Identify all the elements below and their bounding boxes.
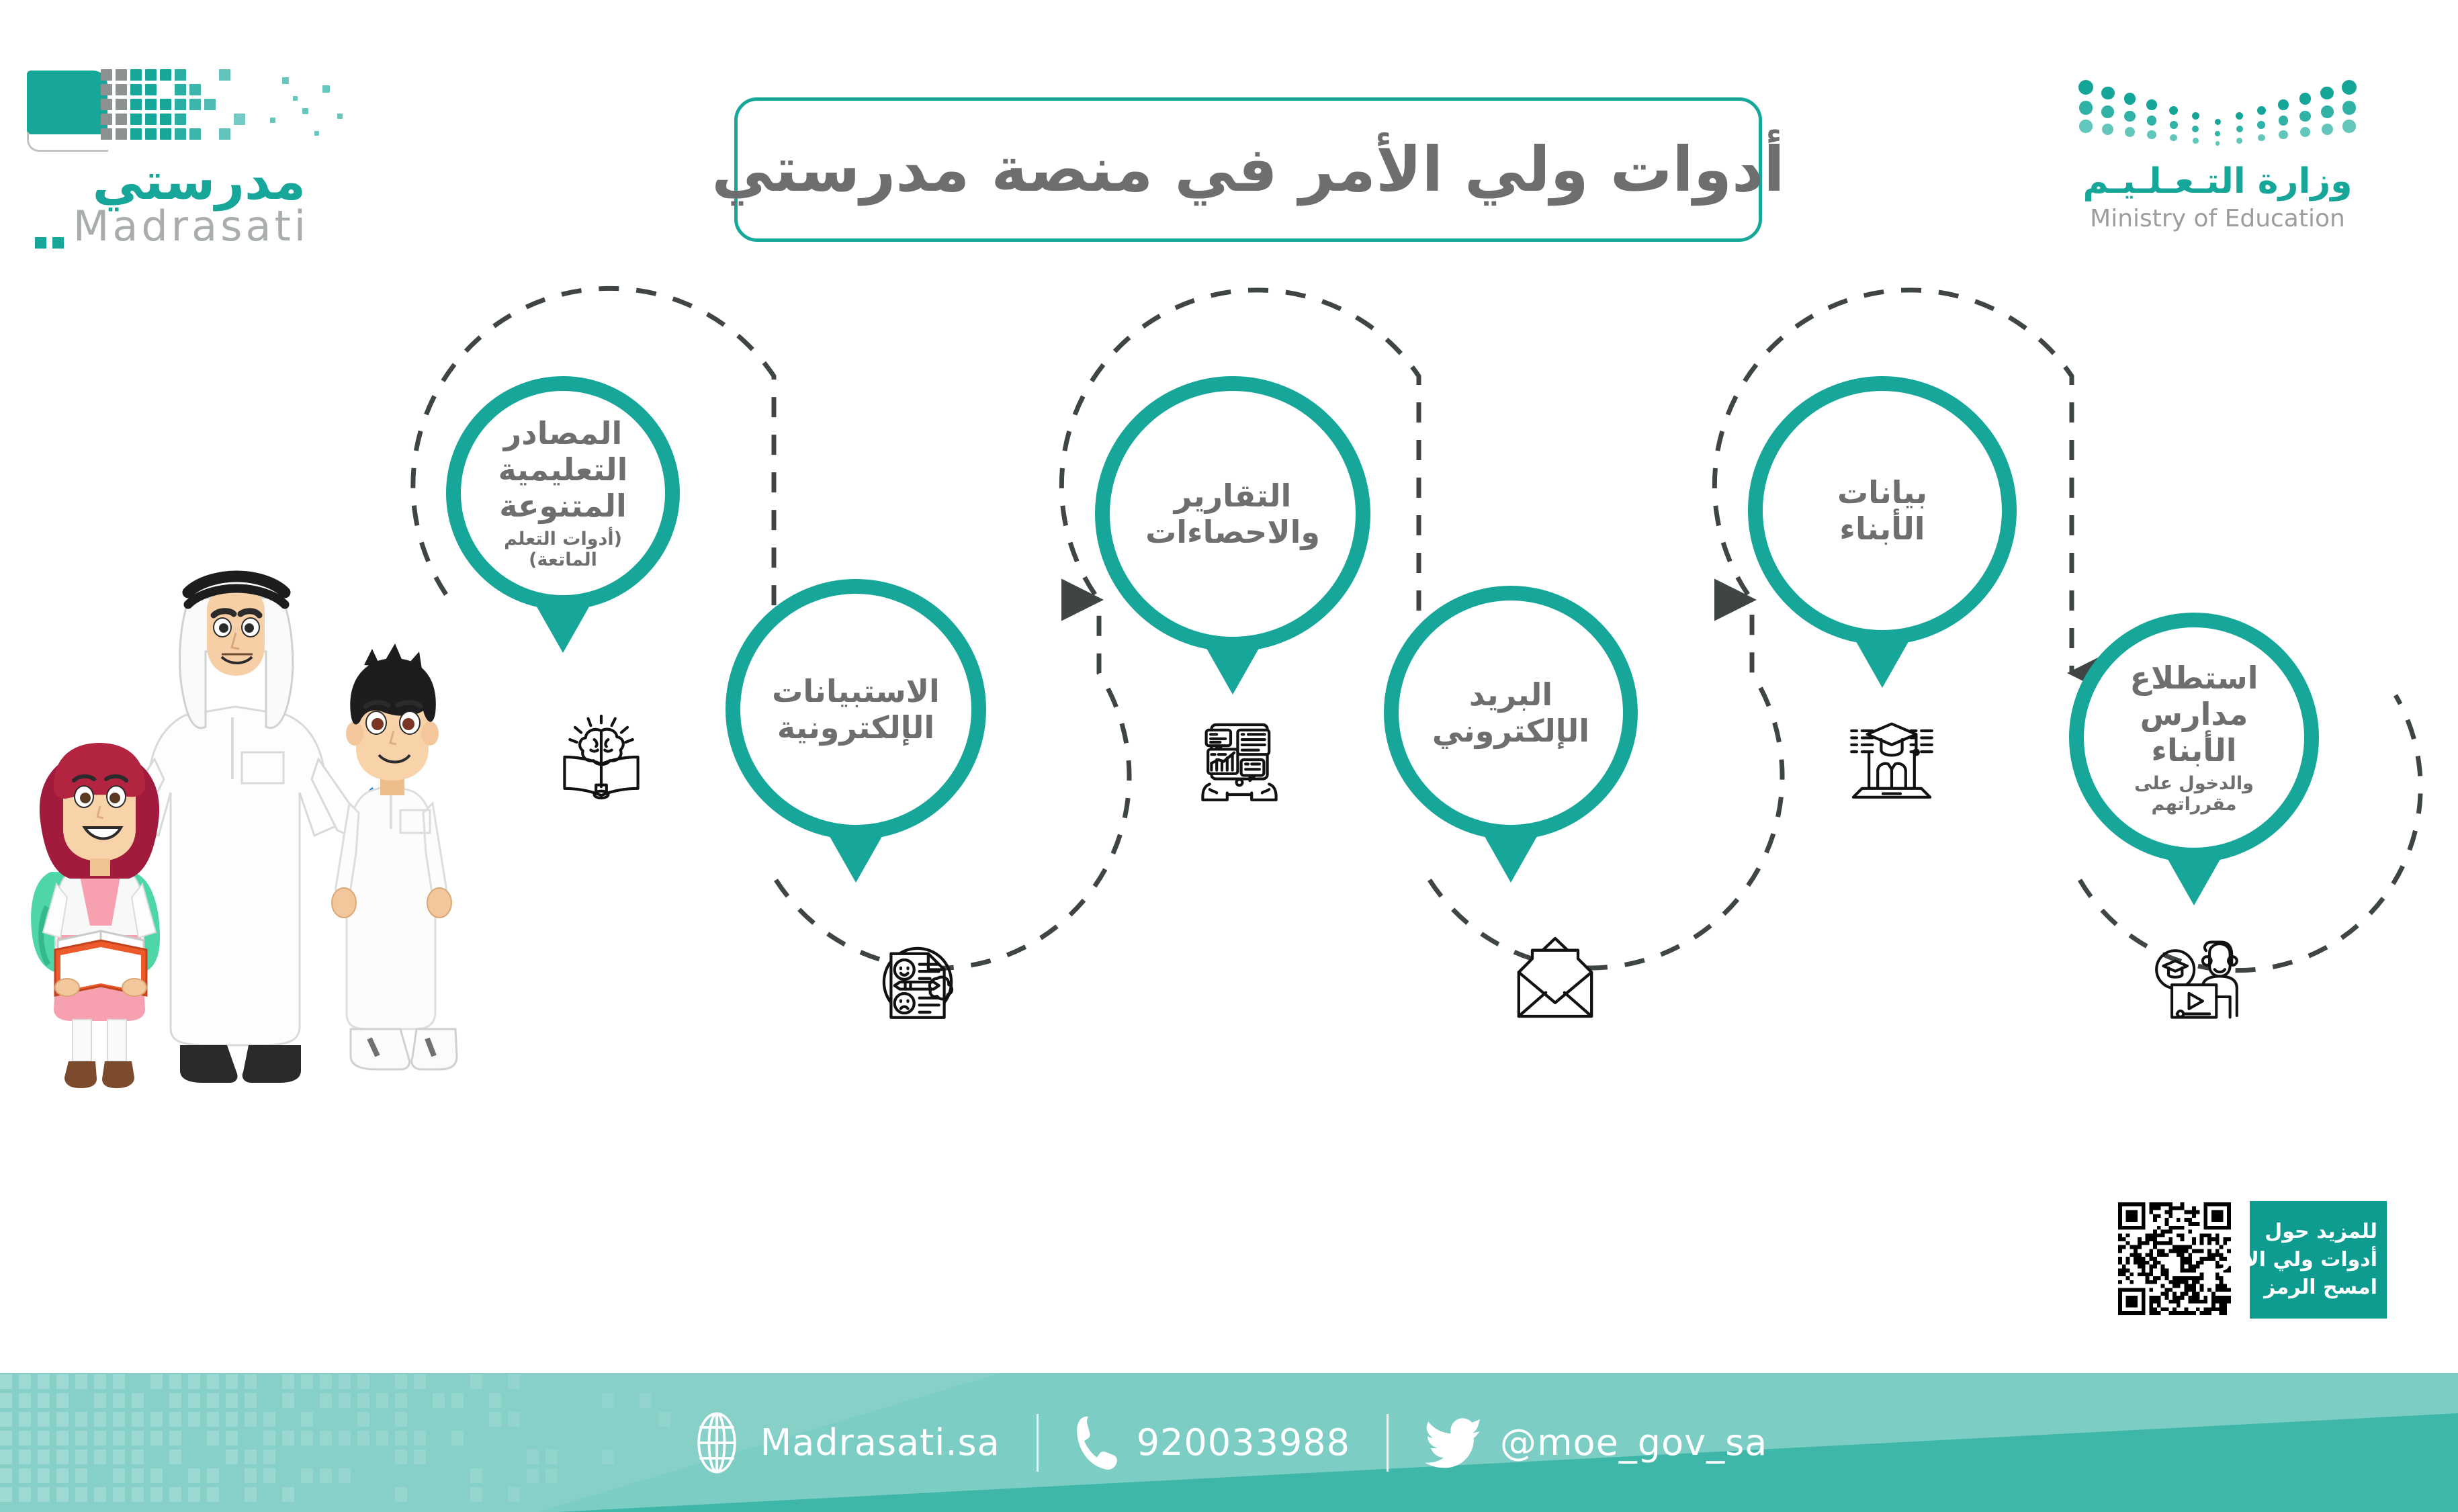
pin-title-line: التقارير [1145, 478, 1320, 514]
pin-title-line: الإلكتروني [1432, 713, 1589, 749]
pin-label-2: الاستبيانات الإلكترونية [753, 673, 959, 746]
girl-figure [31, 743, 160, 1088]
footer: Madrasati.sa 920033988 @moe_gov_sa [0, 1373, 2458, 1512]
madrasati-logo: مدرستي Madrasati [0, 64, 336, 259]
pin-tail-4 [1483, 833, 1539, 883]
pin-label-3: التقارير والاحصاءات [1127, 478, 1339, 551]
footer-twitter-label: @moe_gov_sa [1500, 1421, 1767, 1464]
footer-twitter[interactable]: @moe_gov_sa [1425, 1415, 1767, 1470]
pin-tail-2 [828, 833, 884, 883]
pin-circle-5[interactable]: بيانات الأبناء [1748, 376, 2017, 645]
moe-logo-english: Ministry of Education [2076, 205, 2359, 232]
footer-phone[interactable]: 920033988 [1075, 1415, 1350, 1471]
footer-website-label: Madrasati.sa [760, 1421, 1000, 1464]
pin-circle-1[interactable]: المصادر التعليمية المتنوعة (أدوات التعلم… [446, 376, 680, 610]
ministry-of-education-logo: وزارة التـعـلـيـم Ministry of Education [2076, 71, 2359, 245]
qr-block[interactable]: للمزيد حول أدوات ولي الأمر امسح الرمز [2118, 1202, 2387, 1330]
open-envelope-icon [1508, 935, 1602, 1020]
pin-title-line: الإلكترونية [772, 709, 940, 746]
globe-icon [691, 1412, 743, 1474]
mosaic-pixels-icon [101, 69, 336, 140]
speech-bubble-icon [27, 71, 107, 134]
footer-phone-label: 920033988 [1137, 1421, 1350, 1464]
pin-title-line: بيانات [1837, 474, 1927, 510]
twitter-icon [1425, 1415, 1483, 1470]
footer-separator [1037, 1414, 1039, 1472]
page-title: أدوات ولي الأمر في منصة مدرستي [734, 97, 1762, 242]
pin-title-line: الأبناء [1837, 510, 1927, 547]
pin-subtitle: (أدوات التعلم الماتعة) [480, 529, 646, 572]
qr-line: للمزيد حول [2265, 1218, 2377, 1245]
pin-circle-2[interactable]: الاستبيانات الإلكترونية [726, 579, 986, 840]
header: مدرستي Madrasati أدوات ولي الأمر في منصة… [0, 0, 2458, 269]
footer-contact-items: Madrasati.sa 920033988 @moe_gov_sa [0, 1373, 2458, 1512]
pin-tail-3 [1204, 645, 1261, 695]
pin-label-4: البريد الإلكتروني [1413, 676, 1608, 750]
qr-code-icon[interactable] [2118, 1202, 2231, 1315]
pin-circle-3[interactable]: التقارير والاحصاءات [1095, 376, 1370, 652]
pin-label-5: بيانات الأبناء [1818, 474, 1946, 547]
pin-title-line: المصادر [480, 415, 646, 451]
pin-tail-1 [535, 603, 591, 653]
footer-separator [1387, 1414, 1389, 1472]
pin-title-line: مدارس الأبناء [2103, 696, 2285, 769]
pin-subtitle: والدخول على مقرراتهم [2103, 773, 2285, 816]
pin-circle-4[interactable]: البريد الإلكتروني [1384, 586, 1638, 840]
pin-title-line: التعليمية [480, 451, 646, 488]
pin-title-line: المتنوعة [480, 488, 646, 524]
madrasati-logo-dots [35, 237, 82, 248]
footer-website[interactable]: Madrasati.sa [691, 1412, 1000, 1474]
moe-logo-arabic: وزارة التـعـلـيـم [2076, 161, 2359, 202]
pin-tail-6 [2166, 856, 2222, 905]
pin-title-line: استطلاع [2103, 660, 2285, 696]
online-course-player-icon [2150, 934, 2244, 1022]
pin-tail-5 [1854, 638, 1911, 688]
pin-title-line: والاحصاءات [1145, 514, 1320, 550]
pin-label-1: المصادر التعليمية المتنوعة (أدوات التعلم… [461, 415, 665, 572]
page-title-text: أدوات ولي الأمر في منصة مدرستي [711, 134, 1785, 206]
qr-label: للمزيد حول أدوات ولي الأمر امسح الرمز [2250, 1201, 2387, 1319]
brain-over-book-icon [558, 713, 645, 801]
qr-line: أدوات ولي الأمر [2219, 1246, 2377, 1274]
infographic-canvas: مدرستي Madrasati أدوات ولي الأمر في منصة… [0, 0, 2458, 1512]
pin-circle-6[interactable]: استطلاع مدارس الأبناء والدخول على مقررات… [2069, 613, 2319, 862]
reports-dashboard-icon [1196, 716, 1283, 803]
pin-label-6: استطلاع مدارس الأبناء والدخول على مقررات… [2084, 660, 2304, 816]
boy-figure [332, 643, 457, 1069]
pin-title-line: البريد [1432, 676, 1589, 713]
pin-title-line: الاستبيانات [772, 673, 940, 709]
moe-dot-pattern-icon [2076, 71, 2359, 158]
graduate-on-laptop-icon [1846, 713, 1937, 801]
qr-line: امسح الرمز [2264, 1274, 2377, 1301]
phone-icon [1075, 1415, 1119, 1471]
parent-children-illustration [20, 558, 490, 1182]
survey-form-icon [873, 938, 962, 1026]
